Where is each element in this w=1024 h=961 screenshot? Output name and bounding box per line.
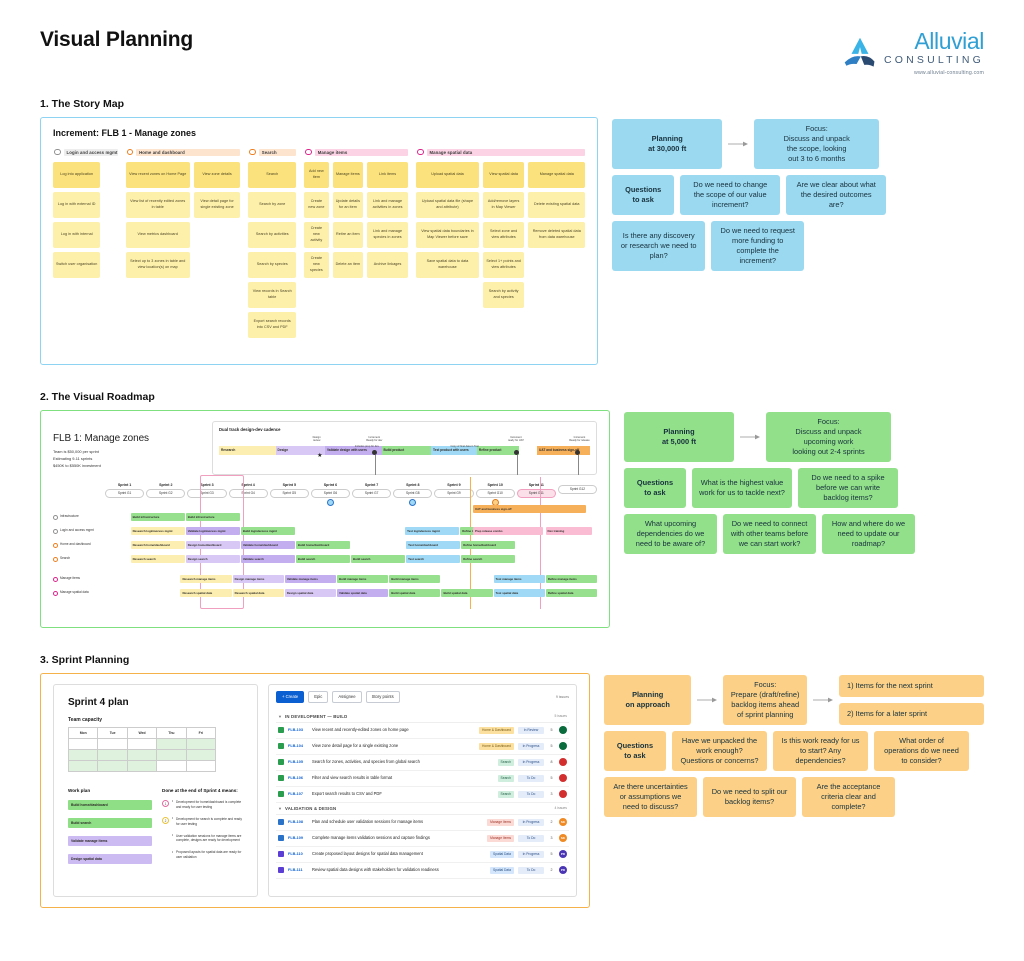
issue-key-link[interactable]: FLB-111 <box>288 868 308 872</box>
capacity-cell-available[interactable] <box>98 749 127 760</box>
epic-filter-button[interactable]: Epic <box>308 691 328 703</box>
story-map-column-bar: Manage items <box>315 149 408 156</box>
sprint-goal-pill[interactable]: Sprint G6 <box>311 489 350 498</box>
roadmap-row-name: Manage spatial data <box>60 591 89 595</box>
story-map-subcolumn-1: View zone detailsView detail page for si… <box>194 162 240 278</box>
roadmap-bar[interactable]: Build manage items <box>389 575 440 583</box>
story-map-story-card[interactable]: Search by species <box>248 252 296 278</box>
story-map-story-card[interactable]: Select up to 3 zones in table and view l… <box>126 252 190 278</box>
sprint-goal-pill[interactable]: Sprint G10 <box>476 489 515 498</box>
work-plan-chip[interactable]: Design spatial data <box>68 854 152 864</box>
task-type-icon <box>278 835 284 841</box>
story-map-story-card[interactable]: Retire an item <box>333 222 364 248</box>
roadmap-bar[interactable]: Design home/dashboard <box>186 541 240 549</box>
roadmap-bar[interactable]: Research spatial data <box>180 589 231 597</box>
story-map-column-bar: Manage spatial data <box>427 149 586 156</box>
question-box: Do we need to connect with other teams b… <box>723 514 816 554</box>
story-map-activity-card[interactable]: View recent zones on Home Page <box>126 162 190 188</box>
planning-outputs: 1) Items for the next sprint2) Items for… <box>839 675 984 725</box>
sprint-goal-pill[interactable]: Sprint G2 <box>146 489 185 498</box>
backlog-row[interactable]: FLB-111Review spatial data designs with … <box>276 863 569 879</box>
backlog-row[interactable]: FLB-108Plan and schedule user validation… <box>276 815 569 831</box>
roadmap-bar[interactable]: Test manage items <box>494 575 545 583</box>
roadmap-bar[interactable]: Validate search <box>241 555 295 563</box>
flow-arrow-icon <box>740 412 760 462</box>
design-review-star-icon: ★ <box>317 452 322 459</box>
milestone-stem <box>375 455 376 475</box>
story-points: 5 <box>548 852 555 856</box>
roadmap-bar[interactable]: Design search <box>186 555 240 563</box>
story-map-activity-card[interactable]: Manage spatial data <box>528 162 585 188</box>
work-plan-chip[interactable]: Build home/dashboard <box>68 800 152 810</box>
story-map-column-0: Login and access mgmtLog into applicatio… <box>53 148 118 338</box>
roadmap-release-bar[interactable]: Prep release combo <box>473 527 543 535</box>
story-map-story-card[interactable]: Export search records into CSV and PDF <box>248 312 296 338</box>
story-map-story-card[interactable]: Select zone and view attributes <box>483 222 524 248</box>
backlog-row[interactable]: FLB-107Export search results to CSV and … <box>276 787 569 803</box>
roadmap-sprint-cell-6: Sprint 6Sprint G6 <box>311 483 350 506</box>
done-criterion: 2Development for search is complete and … <box>162 817 243 827</box>
roadmap-bar[interactable]: Build login/access mgmt <box>241 527 295 535</box>
issue-key-link[interactable]: FLB-106 <box>288 776 308 780</box>
capacity-cell-available[interactable] <box>98 760 127 771</box>
status-badge[interactable]: To Do <box>518 791 544 798</box>
work-plan-chip[interactable]: Validate manage items <box>68 836 152 846</box>
chevron-down-icon[interactable]: ▼ <box>278 806 282 811</box>
story-map-title: Increment: FLB 1 - Manage zones <box>53 128 585 138</box>
dual-track-note: Incrementready for UAT <box>508 436 524 443</box>
roadmap-bar-gap <box>296 527 404 535</box>
sprint-goal-pill[interactable]: Sprint G8 <box>393 489 432 498</box>
story-map-story-card[interactable]: Upload spatial data file (shape and attr… <box>416 192 479 218</box>
roadmap-sprint-cell-2: Sprint 2Sprint G2 <box>146 483 185 506</box>
chevron-down-icon[interactable]: ▼ <box>278 714 282 719</box>
activity-dot-icon <box>54 149 61 156</box>
dual-track-title: Dual track design-dev cadence <box>219 427 590 432</box>
backlog-group-header-1[interactable]: ▼VALIDATION & DESIGN4 issues <box>276 803 569 815</box>
story-map-column-label: Home and dashboard <box>139 150 185 155</box>
story-map-activity-card[interactable]: Log into application <box>53 162 100 188</box>
roadmap-bar[interactable]: Research login/access mgmt <box>131 527 185 535</box>
card-spacer <box>528 252 585 278</box>
dual-track-note: Includes prep for dev <box>355 445 379 448</box>
story-map-story-card[interactable]: View list of recently edited zones in ta… <box>126 192 190 218</box>
roadmap-bar[interactable]: Refine spatial data <box>546 589 597 597</box>
dual-track-band: UAT and business sign-off <box>537 446 590 455</box>
capacity-day-header: Wed <box>127 727 156 738</box>
story-map-story-card[interactable]: Add/remove layers in Map Viewer <box>483 192 524 218</box>
avatar[interactable] <box>559 758 567 766</box>
story-map-story-card[interactable]: Create new species <box>304 252 328 278</box>
questions-row-1: Questionsto askHave we unpacked the work… <box>604 731 984 771</box>
roadmap-sprint-cell-3: Sprint 3Sprint G3 <box>187 483 226 506</box>
roadmap-row-track: Research manage itemsDesign manage items… <box>105 575 597 583</box>
epic-tag[interactable]: Spatial Data <box>490 851 514 858</box>
capacity-cell-available[interactable] <box>186 738 215 749</box>
story-map-story-card[interactable]: Log in with external ID <box>53 192 100 218</box>
story-map-story-card[interactable]: Archive linkages <box>367 252 408 278</box>
status-badge[interactable]: In Progress <box>518 819 544 826</box>
story-map-story-card[interactable]: View metrics dashboard <box>126 222 190 248</box>
roadmap-meta-line: $450K to $550K investment <box>53 462 198 469</box>
roadmap-bar[interactable]: Design spatial data <box>285 589 336 597</box>
epic-tag[interactable]: Search <box>498 791 514 798</box>
roadmap-bar[interactable]: Test login/access mgmt <box>405 527 459 535</box>
question-box: What upcoming dependencies do we need to… <box>624 514 717 554</box>
story-map-subcolumn-0: Log into applicationLog in with external… <box>53 162 100 278</box>
story-map-story-card[interactable]: Remove deleted spatial data from data wa… <box>528 222 585 248</box>
status-badge[interactable]: In Progress <box>518 759 544 766</box>
story-map-subcolumns: SearchSearch by zoneSearch by activities… <box>248 162 296 338</box>
flow-branch-arrow-icon <box>813 675 833 725</box>
roadmap-bar[interactable]: Build infrastructure <box>186 513 240 521</box>
roadmap-bar[interactable]: Refine home/dashboard <box>461 541 515 549</box>
roadmap-bar[interactable]: Build search <box>296 555 350 563</box>
questions-to-ask-label: Questionsto ask <box>612 175 674 215</box>
roadmap-bar[interactable]: Build manage items <box>337 575 388 583</box>
avatar[interactable]: SK <box>559 834 567 842</box>
roadmap-sprint-cell-10: Sprint 10Sprint G10 <box>476 483 515 506</box>
roadmap-bar[interactable]: Validate home/dashboard <box>241 541 295 549</box>
story-map-story-card[interactable]: View records in Search table <box>248 282 296 308</box>
issue-summary: Plan and schedule user validation sessio… <box>312 819 483 825</box>
story-map-story-card[interactable]: Create new activity <box>304 222 328 248</box>
logo-tagline: CONSULTING <box>884 53 984 68</box>
epic-tag[interactable]: Manage Items <box>487 835 514 842</box>
backlog-row[interactable]: FLB-106Filter and view search results in… <box>276 771 569 787</box>
story-map-column-header: Home and dashboard <box>126 148 241 157</box>
section-story-map: 1. The Story Map Increment: FLB 1 - Mana… <box>24 98 1000 365</box>
roadmap-bar[interactable]: Build home/dashboard <box>296 541 350 549</box>
questions-row-2: Are there uncertainties or assumptions w… <box>604 777 984 817</box>
done-criterion-text: Development for search is complete and r… <box>172 817 243 827</box>
story-map-story-card[interactable]: View detail page for single existing zon… <box>194 192 240 218</box>
dual-track-band <box>519 446 537 455</box>
issue-key-link[interactable]: FLB-108 <box>288 820 308 824</box>
roadmap-meta: Team is $50,000 per sprintEstimating 9-1… <box>53 448 198 470</box>
status-badge[interactable]: In Progress <box>518 851 544 858</box>
roadmap-row-3: SearchResearch searchDesign searchValida… <box>53 553 597 566</box>
planning-focus-row: Planningon approachFocus:Prepare (draft/… <box>604 675 984 725</box>
epic-tag[interactable]: Search <box>498 759 514 766</box>
capacity-cell-empty[interactable] <box>69 738 98 749</box>
dual-track-note: Designreview <box>313 436 321 443</box>
story-type-icon <box>278 791 284 797</box>
backlog-row[interactable]: FLB-105Search for zones, activities, and… <box>276 755 569 771</box>
sprint-goal-pill[interactable]: Sprint G3 <box>187 489 226 498</box>
sprint-label: Sprint 9 <box>434 483 473 487</box>
roadmap-row-label: Infrastructure <box>53 515 105 520</box>
issue-summary: Filter and view search results in table … <box>312 775 494 781</box>
story-map-activity-card[interactable]: Add new item <box>304 162 328 188</box>
avatar[interactable]: SK <box>559 818 567 826</box>
capacity-day-header: Mon <box>69 727 98 738</box>
roadmap-row-name: Home and dashboard <box>60 543 91 547</box>
sprint-goal-pill[interactable]: Sprint G7 <box>352 489 391 498</box>
story-map-story-card[interactable]: Link and manage species in zones <box>367 222 408 248</box>
sprint-goal-pill[interactable]: Sprint G12 <box>558 485 597 494</box>
story-map-subcolumns: View recent zones on Home PageView list … <box>126 162 241 278</box>
story-points: 8 <box>548 760 555 764</box>
story-map-activity-card[interactable]: View spatial data <box>483 162 524 188</box>
sprint-label: Sprint 3 <box>187 483 226 487</box>
capacity-cell-empty[interactable] <box>98 738 127 749</box>
sprint-goal-pill[interactable]: Sprint G11 <box>517 489 556 498</box>
done-criterion-number: 1 <box>162 800 169 807</box>
epic-tag[interactable]: Search <box>498 775 514 782</box>
avatar[interactable] <box>559 726 567 734</box>
page-title: Visual Planning <box>40 28 193 52</box>
story-map-subcolumns: Add new itemCreate new zoneCreate new ac… <box>304 162 408 278</box>
avatar[interactable] <box>559 790 567 798</box>
story-map-story-card[interactable]: Switch user organisation <box>53 252 100 278</box>
poster-page: Visual Planning Alluvial CONSULTING www.… <box>0 0 1024 961</box>
roadmap-bar[interactable]: Test search <box>406 555 460 563</box>
dual-track-band: Research <box>219 446 276 455</box>
activity-dot-icon <box>305 149 312 156</box>
story-map-subcolumn-0: SearchSearch by zoneSearch by activities… <box>248 162 296 338</box>
roadmap-bar-gap <box>105 589 179 597</box>
planning-focus-box: Focus:Prepare (draft/refine)backlog item… <box>723 675 807 725</box>
roadmap-row-label: Login and access mgmt <box>53 529 105 534</box>
avatar[interactable]: PD <box>559 866 567 874</box>
dual-track-cadence: Dual track design-dev cadence ResearchDe… <box>212 421 597 475</box>
backlog-row[interactable]: FLB-110Create proposed layout designs fo… <box>276 847 569 863</box>
work-plan-label: Work plan <box>68 788 152 793</box>
backlog-toolbar: + Create Epic Assignee Story points 9 is… <box>276 691 569 703</box>
roadmap-release-bar[interactable]: Dev training <box>546 527 592 535</box>
backlog-group-name: IN DEVELOPMENT — BUILD <box>285 714 347 719</box>
card-spacer <box>194 252 240 278</box>
roadmap-bar[interactable]: Test home/dashboard <box>406 541 460 549</box>
roadmap-row-track: Research searchDesign searchValidate sea… <box>105 555 597 563</box>
roadmap-bar-gap <box>441 575 492 583</box>
capacity-cell-available[interactable] <box>127 749 156 760</box>
roadmap-sprint-cell-12: Sprint G12 <box>558 483 597 506</box>
story-map-story-card[interactable]: Link and manage activities in zones <box>367 192 408 218</box>
story-map-column-label: Login and access mgmt <box>67 150 118 155</box>
roadmap-row-dot-icon <box>53 577 58 582</box>
story-map-column-label: Search <box>262 150 277 155</box>
issue-key-link[interactable]: FLB-105 <box>288 760 308 764</box>
capacity-day-header: Tue <box>98 727 127 738</box>
roadmap-bar[interactable]: Build spatial data <box>389 589 440 597</box>
done-criterion: 1Development for home/dashboard is compl… <box>162 800 243 810</box>
story-map-story-card[interactable]: Search by activities <box>248 222 296 248</box>
question-box: What is the highest value work for us to… <box>692 468 792 508</box>
sprint-label: Sprint 8 <box>393 483 432 487</box>
story-map-column-1: Home and dashboardView recent zones on H… <box>126 148 241 338</box>
capacity-cell-available[interactable] <box>127 760 156 771</box>
story-map-activity-card[interactable]: Link items <box>367 162 408 188</box>
story-map-story-card[interactable]: Search by activity and species <box>483 282 524 308</box>
epic-tag[interactable]: Manage Items <box>487 819 514 826</box>
roadmap-bar-gap <box>105 555 130 563</box>
issue-key-link[interactable]: FLB-103 <box>288 728 308 732</box>
story-type-icon <box>278 759 284 765</box>
capacity-cell-empty[interactable] <box>186 760 215 771</box>
sprint-goal-pill[interactable]: Sprint G5 <box>270 489 309 498</box>
roadmap-bar-gap <box>105 575 179 583</box>
section-sprint-planning: 3. Sprint Planning Sprint 4 plan Team ca… <box>24 654 1000 908</box>
question-box: Is this work ready for us to start? Any … <box>773 731 868 771</box>
roadmap-bar[interactable]: Research home/dashboard <box>131 541 185 549</box>
question-box: What order of operations do we need to c… <box>874 731 969 771</box>
story-map-story-card[interactable]: Delete existing spatial data <box>528 192 585 218</box>
capacity-cell-empty[interactable] <box>157 760 186 771</box>
alluvial-leaf-icon <box>843 36 877 70</box>
issue-summary: Export search results to CSV and PDF <box>312 791 494 797</box>
done-criterion-text: Proposed layouts for spatial data are re… <box>172 850 243 860</box>
capacity-cell-available[interactable] <box>69 760 98 771</box>
story-map-story-card[interactable]: Log in with internal <box>53 222 100 248</box>
roadmap-bar[interactable]: Validate login/access mgmt <box>186 527 240 535</box>
sprint-goal-pill[interactable]: Sprint G1 <box>105 489 144 498</box>
roadmap-bar[interactable]: Build infrastructure <box>131 513 185 521</box>
sprint-planning-panel: Sprint 4 plan Team capacity MonTueWedThu… <box>40 673 590 908</box>
sprint-milestone-icon <box>327 499 334 506</box>
question-box: Are there uncertainties or assumptions w… <box>604 777 697 817</box>
roadmap-bar-gap <box>105 527 130 535</box>
issue-count: 9 issues <box>556 695 569 699</box>
planning-on-approach-flow: Planningon approachFocus:Prepare (draft/… <box>604 673 984 817</box>
roadmap-bar[interactable]: Build spatial data <box>441 589 492 597</box>
avatar[interactable] <box>559 742 567 750</box>
roadmap-meta-line: Estimating 9-11 sprints <box>53 455 198 462</box>
story-map-column-header: Login and access mgmt <box>53 148 118 157</box>
backlog-group-count: 4 issues <box>555 806 567 810</box>
epic-tag[interactable]: Home & Dashboard <box>479 743 514 750</box>
done-criterion-number <box>162 834 169 841</box>
story-map-story-card[interactable]: Update details for an item <box>333 192 364 218</box>
planning-30000ft-flow: Planningat 30,000 ftFocus:Discuss and un… <box>612 117 984 271</box>
status-badge[interactable]: To Do <box>518 775 544 782</box>
roadmap-bar[interactable]: Refine search <box>461 555 515 563</box>
create-button[interactable]: + Create <box>276 691 304 703</box>
capacity-cell-available[interactable] <box>186 749 215 760</box>
story-map-story-card[interactable]: Create new zone <box>304 192 328 218</box>
story-map-column-bar: Search <box>259 149 296 156</box>
done-criterion-text: Development for home/dashboard is comple… <box>172 800 243 810</box>
epic-tag[interactable]: Home & Dashboard <box>479 727 514 734</box>
story-map-story-card[interactable]: Save spatial data to data warehouse <box>416 252 479 278</box>
story-map-story-card[interactable]: Search by zone <box>248 192 296 218</box>
planning-focus-box: Focus:Discuss and unpackthe scope, looki… <box>754 119 879 169</box>
sprint-goal-pill[interactable]: Sprint G9 <box>434 489 473 498</box>
sprint-goal-pill[interactable]: Sprint G4 <box>229 489 268 498</box>
issue-summary: Create proposed layout designs for spati… <box>312 851 486 857</box>
questions-row-1: Questionsto askDo we need to change the … <box>612 175 984 215</box>
work-plan-chip[interactable]: Build search <box>68 818 152 828</box>
status-badge[interactable]: In Review <box>518 727 544 734</box>
issue-key-link[interactable]: FLB-104 <box>288 744 308 748</box>
roadmap-bar[interactable]: Validate spatial data <box>337 589 388 597</box>
sprint-label: Sprint 10 <box>476 483 515 487</box>
roadmap-row-name: Search <box>60 557 70 561</box>
story-points: 3 <box>548 792 555 796</box>
story-map-activity-card[interactable]: Search <box>248 162 296 188</box>
backlog-row[interactable]: FLB-103View recent and recently-edited z… <box>276 723 569 739</box>
capacity-row-2 <box>69 760 216 771</box>
backlog-group-header-0[interactable]: ▼IN DEVELOPMENT — BUILD5 issues <box>276 711 569 723</box>
task-type-icon <box>278 819 284 825</box>
story-map-subcolumn-1: View spatial dataAdd/remove layers in Ma… <box>483 162 524 308</box>
story-map-subcolumn-2: Link itemsLink and manage activities in … <box>367 162 408 278</box>
story-map-activity-card[interactable]: Manage items <box>333 162 364 188</box>
epic-tag[interactable]: Spatial Data <box>490 867 514 874</box>
questions-row-2: What upcoming dependencies do we need to… <box>624 514 984 554</box>
roadmap-bar[interactable]: Test spatial data <box>494 589 545 597</box>
issue-summary: Complete manage items validation session… <box>312 835 483 841</box>
roadmap-release-bar[interactable]: UAT and business sign-off <box>473 505 586 513</box>
roadmap-bar[interactable]: Refine manage items <box>546 575 597 583</box>
status-badge[interactable]: To Do <box>518 867 544 874</box>
story-map-column-bar: Login and access mgmt <box>64 149 118 156</box>
story-map-story-card[interactable]: View spatial data boundaries in Map View… <box>416 222 479 248</box>
avatar[interactable]: PD <box>559 850 567 858</box>
story-map-story-card[interactable]: Delete an item <box>333 252 364 278</box>
roadmap-bar[interactable]: Research manage items <box>180 575 231 583</box>
backlog-row[interactable]: FLB-109Complete manage items validation … <box>276 831 569 847</box>
roadmap-bar-gap <box>351 541 405 549</box>
logo-url: www.alluvial-consulting.com <box>914 70 984 76</box>
backlog-row[interactable]: FLB-104View zone detail page for a singl… <box>276 739 569 755</box>
story-map-column-header: Manage items <box>304 148 408 157</box>
status-badge[interactable]: In Progress <box>518 743 544 750</box>
roadmap-row-label: Search <box>53 557 105 562</box>
roadmap-bar[interactable]: Research search <box>131 555 185 563</box>
story-map-column-header: Search <box>248 148 296 157</box>
capacity-cell-empty[interactable] <box>127 738 156 749</box>
flow-arrow-icon <box>697 675 717 725</box>
sprint-label: Sprint 2 <box>146 483 185 487</box>
done-criterion-text: User validation sessions for manage item… <box>172 834 243 844</box>
question-box: Do we need to request more funding to co… <box>711 221 804 271</box>
questions-to-ask-label: Questionsto ask <box>624 468 686 508</box>
issue-key-link[interactable]: FLB-107 <box>288 792 308 796</box>
issue-summary: View recent and recently-edited zones on… <box>312 727 475 733</box>
capacity-cell-available[interactable] <box>157 738 186 749</box>
sprint-plan-card: Sprint 4 plan Team capacity MonTueWedThu… <box>53 684 258 897</box>
roadmap-bar[interactable]: Design manage items <box>233 575 284 583</box>
story-map-column-3: Manage itemsAdd new itemCreate new zoneC… <box>304 148 408 338</box>
sprint-label: Sprint 1 <box>105 483 144 487</box>
roadmap-rows: InfrastructureBuild infrastructureBuild … <box>53 511 597 600</box>
story-points-filter-button[interactable]: Story points <box>366 691 400 703</box>
backlog-groups: ▼IN DEVELOPMENT — BUILD5 issuesFLB-103Vi… <box>276 711 569 879</box>
done-label: Done at the end of Sprint 4 means: <box>162 788 243 793</box>
roadmap-bar[interactable]: Validate manage items <box>285 575 336 583</box>
capacity-row-1 <box>69 749 216 760</box>
capacity-cell-available[interactable] <box>157 749 186 760</box>
capacity-cell-available[interactable] <box>69 749 98 760</box>
assignee-filter-button[interactable]: Assignee <box>332 691 361 703</box>
section-1-label: 1. The Story Map <box>40 98 1000 110</box>
issue-key-link[interactable]: FLB-110 <box>288 852 308 856</box>
roadmap-bar[interactable]: Build search <box>351 555 405 563</box>
avatar[interactable] <box>559 774 567 782</box>
status-badge[interactable]: To Do <box>518 835 544 842</box>
story-map-activity-card[interactable]: View zone details <box>194 162 240 188</box>
roadmap-bar[interactable]: Research spatial data <box>233 589 284 597</box>
planning-focus-row: Planningat 30,000 ftFocus:Discuss and un… <box>612 119 984 169</box>
story-map-activity-card[interactable]: Upload spatial data <box>416 162 479 188</box>
issue-key-link[interactable]: FLB-109 <box>288 836 308 840</box>
design-type-icon <box>278 851 284 857</box>
story-map-story-card[interactable]: Select 1+ points and view attributes <box>483 252 524 278</box>
activity-dot-icon <box>417 149 424 156</box>
done-criterion: Proposed layouts for spatial data are re… <box>162 850 243 860</box>
